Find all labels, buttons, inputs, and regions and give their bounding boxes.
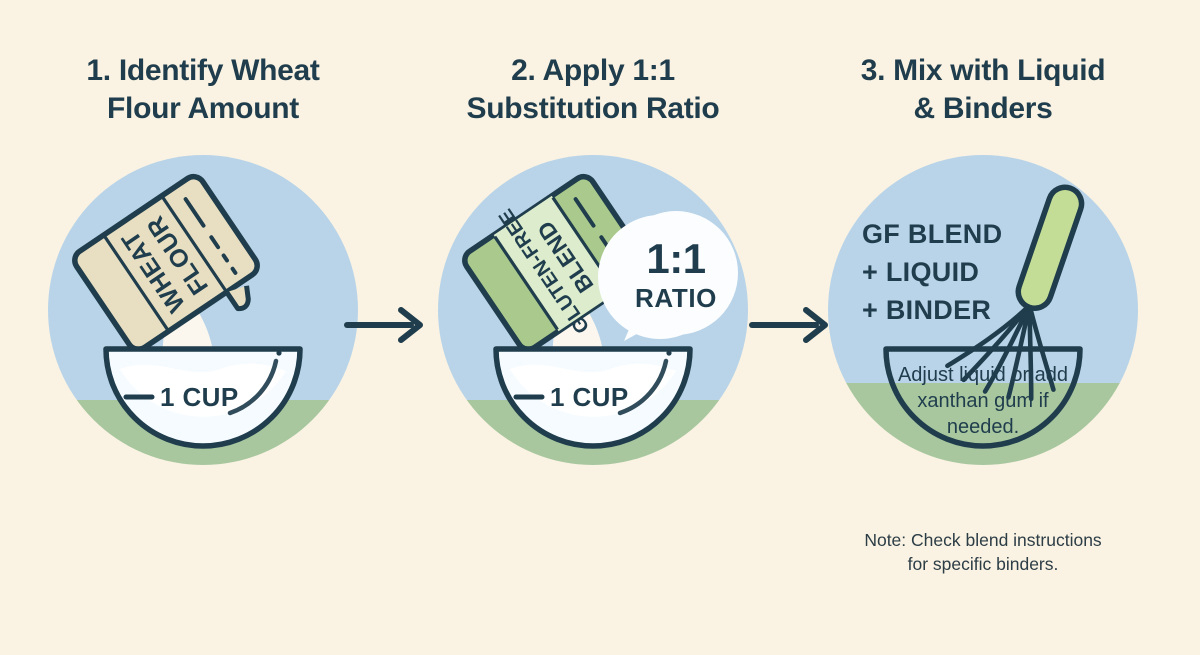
step-3-note: Note: Check blend instructions for speci…	[813, 528, 1153, 576]
step-1-illustration: WHEAT FLOUR 1 CUP	[48, 155, 358, 465]
bubble-ratio-caption: RATIO	[635, 283, 717, 313]
step-2-scene: GLUTEN-FREE BLEND 1 CUP	[438, 155, 748, 465]
step-1-title: 1. Identify Wheat Flour Amount	[23, 52, 383, 129]
bag-dash-3	[233, 269, 236, 273]
measure-label: 1 CUP	[160, 382, 239, 412]
step-1-scene: WHEAT FLOUR 1 CUP	[48, 155, 358, 465]
step-3-title: 3. Mix with Liquid & Binders	[803, 52, 1163, 129]
bowl-text-line-2: xanthan gum if	[917, 390, 1049, 412]
bubble-ratio-value: 1:1	[646, 235, 705, 282]
step-2: 2. Apply 1:1 Substitution Ratio	[413, 0, 773, 655]
formula-line-1: GF BLEND	[862, 219, 1002, 249]
bag-dash-2	[224, 255, 227, 260]
measure-label: 1 CUP	[550, 382, 629, 412]
step-2-title: 2. Apply 1:1 Substitution Ratio	[413, 52, 773, 129]
step-3-illustration: GF BLEND + LIQUID + BINDER	[828, 155, 1138, 465]
bowl-text-line-3: needed.	[947, 416, 1019, 438]
bowl-highlight-dot	[276, 350, 281, 355]
bowl-highlight-dot	[666, 350, 671, 355]
step-3-scene: GF BLEND + LIQUID + BINDER	[828, 155, 1138, 465]
step-1: 1. Identify Wheat Flour Amount	[23, 0, 383, 655]
bowl-text-line-1: Adjust liquid or add	[898, 364, 1068, 386]
formula-line-3: + BINDER	[862, 295, 991, 325]
formula-line-2: + LIQUID	[862, 257, 979, 287]
step-2-illustration: GLUTEN-FREE BLEND 1 CUP	[438, 155, 748, 465]
infographic-canvas: 1. Identify Wheat Flour Amount	[0, 0, 1200, 655]
step-3: 3. Mix with Liquid & Binders GF BLEND + …	[803, 0, 1163, 655]
